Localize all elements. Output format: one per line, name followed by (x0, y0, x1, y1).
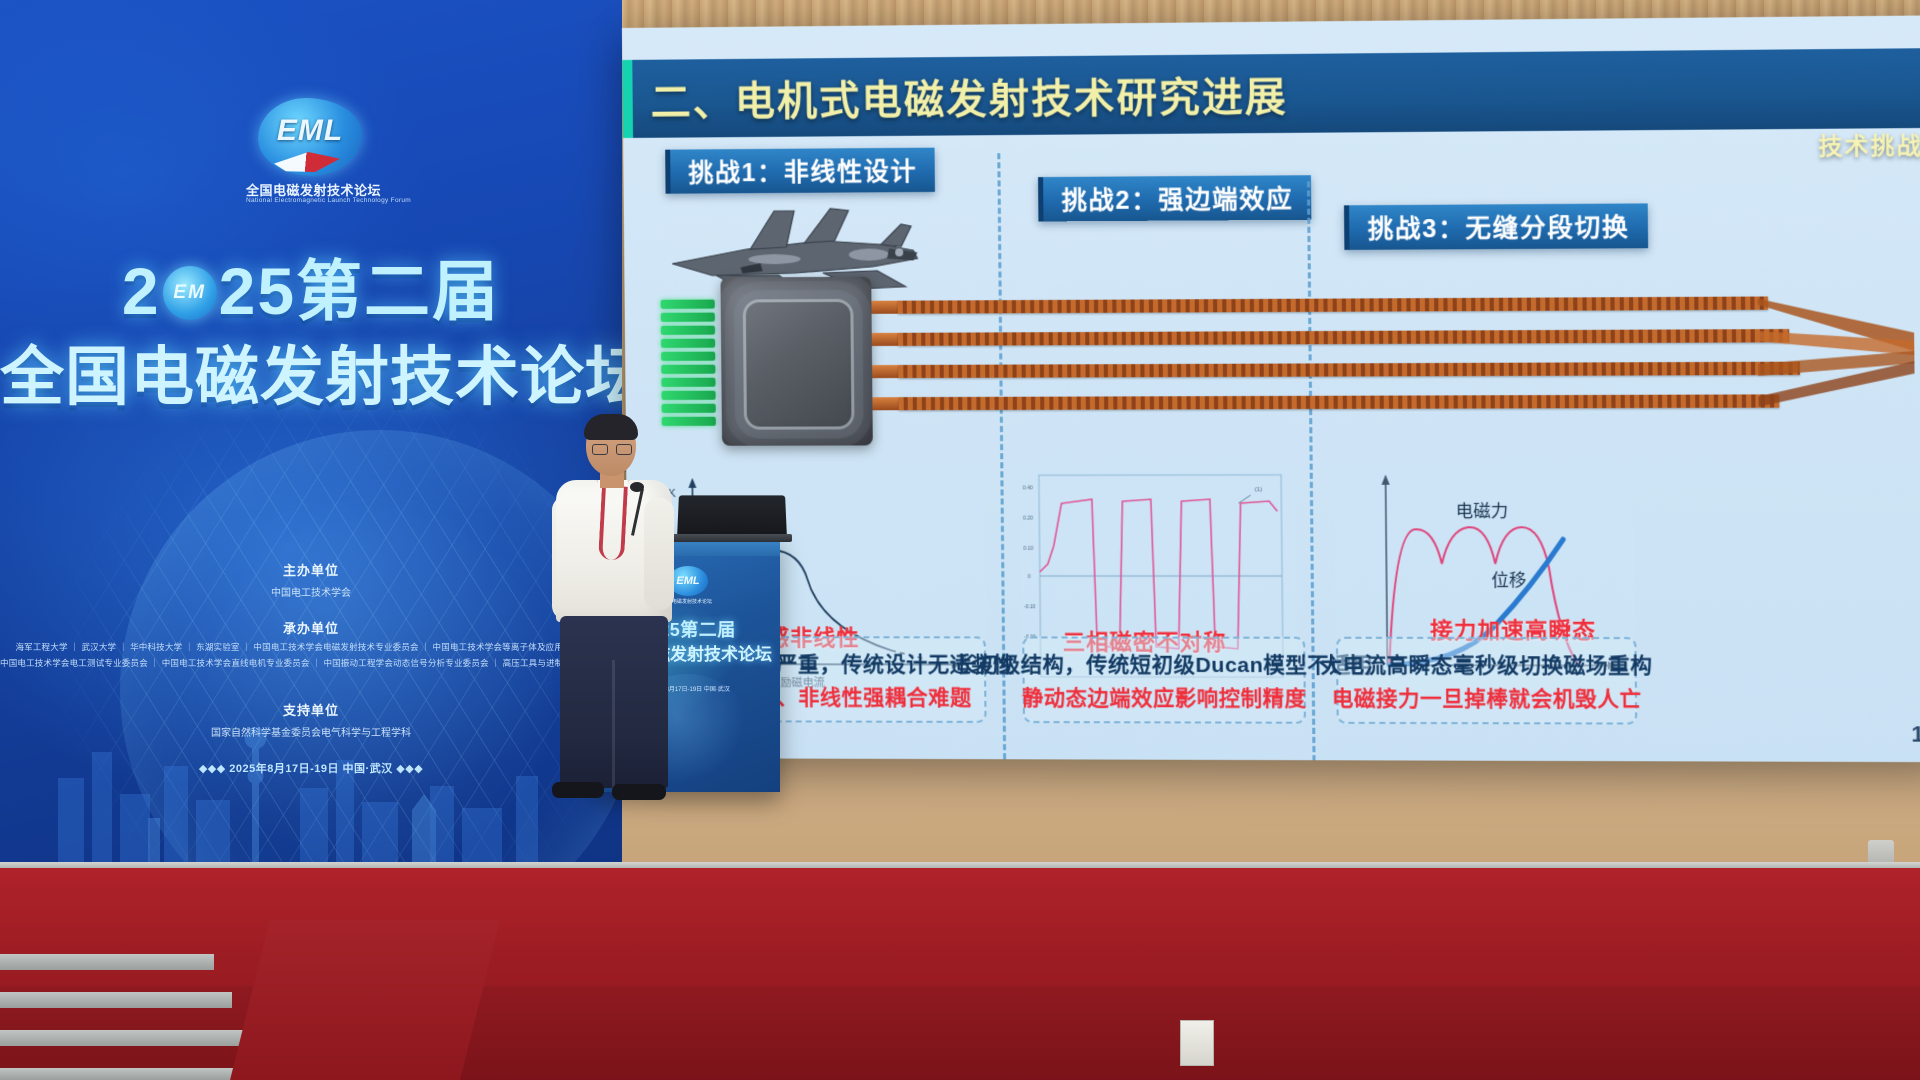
banner-eml-logo: 全国电磁发射技术论坛 National Electromagnetic Laun… (246, 98, 376, 208)
banner-year-eml-icon (163, 266, 217, 320)
linear-motor-coil-module (720, 277, 872, 446)
banner-forum-title: 全国电磁发射技术论坛 (0, 326, 622, 418)
host-heading: 主办单位 (0, 560, 622, 579)
speaker-leg-split (612, 660, 615, 788)
svg-text:0.20: 0.20 (1023, 516, 1033, 522)
organizers-row-1: 海军工程大学 ｜ 武汉大学 ｜ 华中科技大学 ｜ 东湖实验室 ｜ 中国电工技术学… (0, 641, 622, 653)
challenge-chip-2: 挑战2：强边端效应 (1038, 175, 1312, 221)
microphone-icon (630, 482, 644, 492)
speaker-left-shoe (552, 782, 604, 798)
finding-box-2: 长初级结构，传统短初级Ducan模型不适用 静动态边端效应影响控制精度 (1022, 636, 1306, 723)
screenshot-root: 全国电磁发射技术论坛 National Electromagnetic Laun… (0, 0, 1920, 1080)
laptop-screen (677, 495, 787, 537)
rail-cap-1 (871, 301, 899, 314)
svg-text:-0.10: -0.10 (1024, 604, 1036, 610)
finding-3-line-2: 电磁接力一旦掉棒就会机毁人亡 (1332, 682, 1642, 713)
banner-date-block: ◆◆◆ 2025年8月17日-19日 中国·武汉 ◆◆◆ (0, 760, 622, 776)
banner-year-prefix: 2 (122, 254, 161, 328)
organizers-row-2: 中国电工技术学会电工测试专业委员会 ｜ 中国电工技术学会直线电机专业委员会 ｜ … (0, 657, 622, 669)
presentation-slide: 二、电机式电磁发射技术研究进展 技术挑战 挑战1：非线性设计 挑战2：强边端效应… (622, 15, 1920, 762)
challenge-chip-1: 挑战1：非线性设计 (665, 148, 935, 194)
organizers-heading: 承办单位 (0, 618, 622, 637)
host-item: 中国电工技术学会 (0, 584, 622, 599)
banner-year-suffix: 25第二届 (219, 254, 500, 328)
finding-3-line-1: 大电流高瞬态毫秒级切换磁场重构 (1320, 648, 1652, 679)
podium-eml-icon (668, 566, 708, 596)
speaker-hair (584, 414, 638, 440)
finding-box-3: 大电流高瞬态毫秒级切换磁场重构 电磁接力一旦掉棒就会机毁人亡 (1336, 637, 1637, 725)
svg-text:0.10: 0.10 (1023, 546, 1033, 552)
rail-cap-4 (872, 397, 900, 410)
rail-cap-2 (872, 333, 900, 346)
launch-system-illustration (646, 265, 1920, 452)
stage-carpet-runner (230, 920, 500, 1080)
rail-cap-3 (872, 365, 900, 378)
rail-vanishing-point (1757, 284, 1915, 417)
guide-rail-4 (899, 394, 1780, 410)
projection-screen: 二、电机式电磁发射技术研究进展 技术挑战 挑战1：非线性设计 挑战2：强边端效应… (622, 15, 1920, 762)
green-stator-stack (661, 300, 718, 426)
speaker-glasses-icon (592, 444, 632, 455)
finding-2-line-2: 静动态边端效应影响控制精度 (1022, 681, 1307, 712)
floor-sign-placard (1180, 1020, 1214, 1066)
slide-section-tag: 技术挑战 (1818, 126, 1920, 162)
speaker-right-arm (644, 498, 674, 610)
banner-date-line: ◆◆◆ 2025年8月17日-19日 中国·武汉 ◆◆◆ (0, 760, 622, 776)
speaker-right-shoe (612, 784, 666, 800)
eml-logo-en-name: National Electromagnetic Launch Technolo… (246, 197, 376, 204)
finding-2-line-1: 长初级结构，传统短初级Ducan模型不适用 (955, 648, 1373, 679)
guide-rail-2 (898, 329, 1789, 346)
supporters-heading: 支持单位 (0, 700, 622, 719)
laptop-base (672, 534, 792, 542)
svg-text:(1): (1) (1255, 487, 1263, 493)
chart3-label-displacement: 位移 (1491, 566, 1526, 591)
chart3-label-force: 电磁力 (1456, 497, 1509, 522)
banner-host-block: 主办单位 中国电工技术学会 (0, 560, 622, 599)
banner-organizers-block: 承办单位 海军工程大学 ｜ 武汉大学 ｜ 华中科技大学 ｜ 东湖实验室 ｜ 中国… (0, 618, 622, 669)
slide-page-number: 13 (1911, 721, 1920, 748)
guide-rail-1 (898, 296, 1768, 313)
svg-text:0: 0 (1028, 574, 1031, 580)
slide-accent-bar (622, 60, 633, 138)
supporters-item: 国家自然科学基金委员会电气科学与工程学科 (0, 724, 622, 739)
banner-supporters-block: 支持单位 国家自然科学基金委员会电气科学与工程学科 (0, 700, 622, 739)
banner-year-heading: 225第二届 (0, 238, 622, 334)
svg-text:0.40: 0.40 (1023, 485, 1033, 491)
speaker-lanyard (598, 485, 628, 560)
conference-backdrop-banner: 全国电磁发射技术论坛 National Electromagnetic Laun… (0, 0, 622, 880)
challenge-chip-3: 挑战3：无缝分段切换 (1344, 203, 1648, 250)
guide-rail-3 (898, 362, 1800, 378)
slide-title: 二、电机式电磁发射技术研究进展 (650, 62, 1288, 130)
